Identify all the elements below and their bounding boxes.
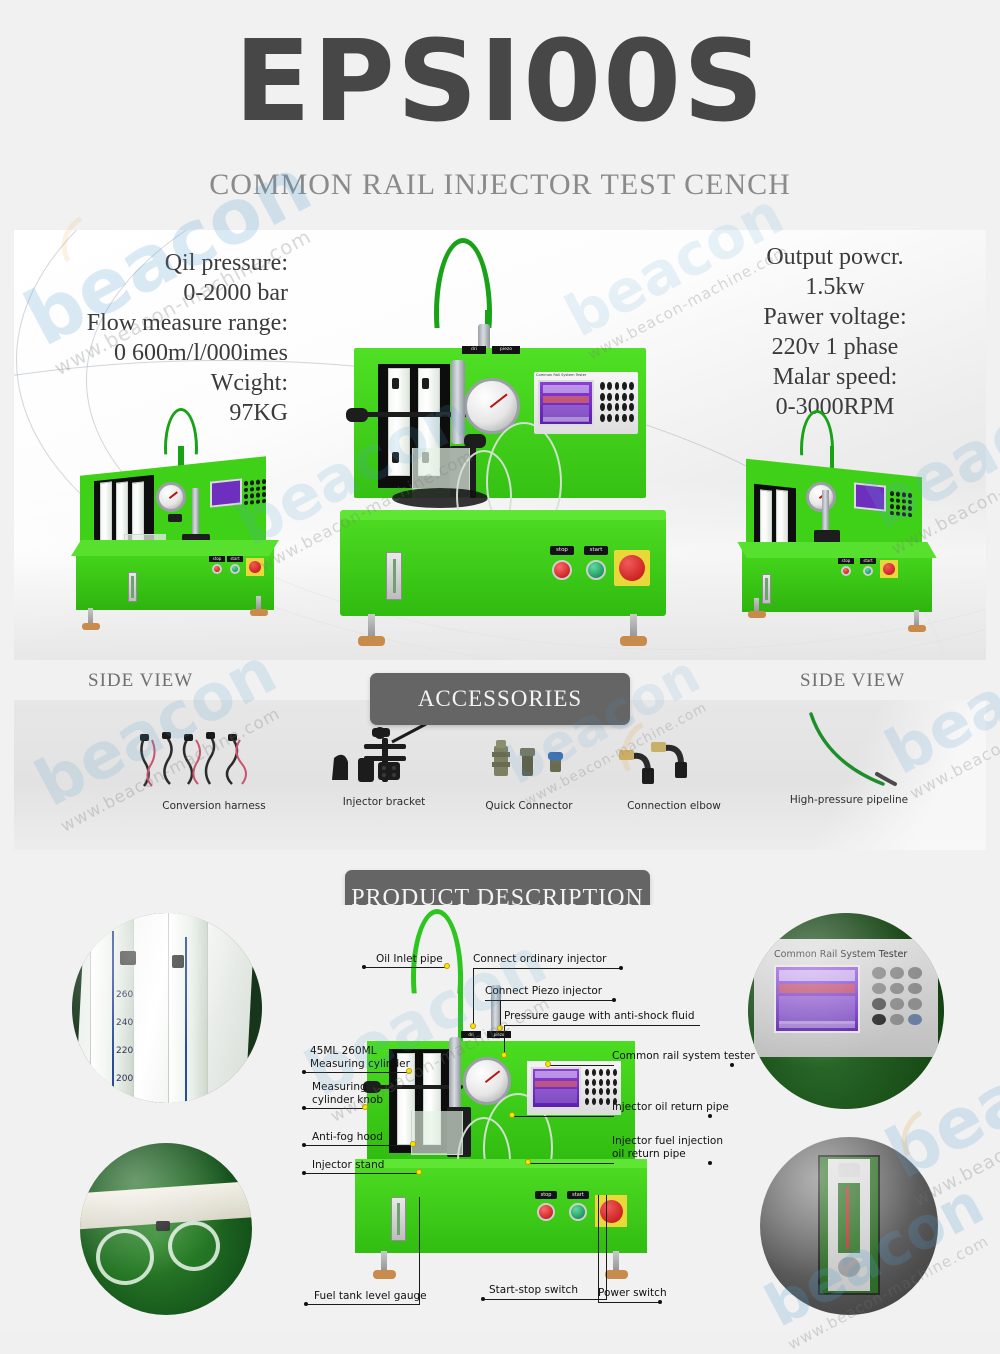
leader-anchor [501, 1052, 507, 1058]
keypad-key[interactable] [629, 414, 634, 422]
stop-button[interactable] [537, 1203, 555, 1221]
accessory-label: Conversion harness [124, 800, 304, 812]
high-pressure-pipeline-icon [749, 712, 949, 800]
cylinder-top-view-photo [80, 1143, 252, 1315]
controller-keypad[interactable] [244, 479, 266, 505]
keypad-key[interactable] [890, 497, 894, 502]
keypad-key[interactable] [606, 1098, 610, 1105]
keypad-key[interactable] [600, 403, 605, 411]
leader-anchor [470, 1023, 476, 1029]
fuel-tank-level-gauge [391, 1197, 406, 1241]
start-button-label: start [567, 1191, 589, 1199]
machine-foot-pad [373, 1270, 396, 1279]
keypad-key[interactable] [629, 403, 634, 411]
fuel-tank-level-gauge [762, 574, 771, 604]
photo-gloss [748, 913, 944, 1109]
keypad-key[interactable] [250, 493, 254, 498]
leader-line [473, 968, 474, 1026]
injector-holder [449, 1037, 461, 1111]
keypad-key[interactable] [890, 491, 894, 496]
leader-dot [302, 1070, 306, 1074]
stop-button-label: stop [535, 1191, 557, 1199]
keypad-key[interactable] [606, 1069, 610, 1076]
cylinder-clip [392, 378, 399, 389]
leader-line [504, 1025, 505, 1055]
keypad-key[interactable] [908, 493, 912, 498]
callout-injector-stand: Injector stand [312, 1159, 384, 1172]
keypad-key[interactable] [256, 499, 260, 504]
side-view-caption-right: SIDE VIEW [800, 670, 905, 692]
machine-foot-pad [358, 636, 385, 646]
beaker [411, 1111, 463, 1155]
leader-line [500, 1000, 501, 1028]
leader-line [483, 1299, 607, 1300]
leader-anchor [410, 1141, 416, 1147]
pressure-gauge [806, 482, 836, 512]
connection-elbow-icon [589, 726, 759, 800]
injector-holder [451, 360, 465, 444]
leader-line [304, 1072, 410, 1073]
keypad-key[interactable] [896, 491, 900, 496]
power-switch[interactable] [880, 560, 898, 578]
keypad-key[interactable] [585, 1079, 589, 1086]
start-button-label: start [860, 558, 876, 564]
power-switch[interactable] [595, 1195, 627, 1227]
callout-pressure-gauge: Pressure gauge with anti-shock fluid [504, 1010, 695, 1023]
leader-anchor [509, 1112, 515, 1118]
callout-power-switch: Power switch [598, 1287, 667, 1300]
keypad-key[interactable] [908, 506, 912, 511]
keypad-key[interactable] [902, 499, 906, 504]
callout-injector-oil-return-pipe: Injector oil return pipe [612, 1101, 729, 1114]
keypad-key[interactable] [262, 492, 266, 497]
leader-dot [730, 1063, 734, 1067]
keypad-key[interactable] [592, 1079, 596, 1086]
piezo-injector-port-label: piezo [492, 346, 520, 354]
keypad-key[interactable] [896, 504, 900, 509]
leader-line [548, 1065, 614, 1066]
leader-dot [658, 1300, 662, 1304]
cabinet-top-edge [340, 510, 666, 520]
keypad-key[interactable] [585, 1088, 589, 1095]
controller-lcd[interactable] [538, 380, 594, 426]
callout-anti-fog-hood: Anti-fog hood [312, 1131, 383, 1144]
machine-cabinet-top [71, 540, 279, 556]
leader-line [364, 967, 448, 968]
knob [168, 514, 182, 522]
keypad-key[interactable] [615, 414, 620, 422]
ordinary-injector-port-label: dri [461, 1031, 481, 1038]
keypad-key[interactable] [607, 414, 612, 422]
keypad-key[interactable] [600, 382, 605, 390]
leader-dot [302, 1171, 306, 1175]
photo-gloss [760, 1137, 938, 1315]
leader-dot [304, 1302, 308, 1306]
leader-dot [481, 1297, 485, 1301]
leader-line [512, 1116, 614, 1117]
keypad-key[interactable] [250, 487, 254, 492]
keypad-key[interactable] [622, 393, 627, 401]
keypad-key[interactable] [902, 512, 906, 517]
start-button[interactable] [569, 1203, 587, 1221]
accessory-connection-elbow: Connection elbow [589, 726, 759, 812]
leader-dot [362, 965, 366, 969]
accessory-conversion-harness: Conversion harness [124, 726, 304, 812]
keypad-key[interactable] [600, 393, 605, 401]
stop-button-label: stop [209, 556, 225, 562]
keypad-key[interactable] [599, 1069, 603, 1076]
keypad-key[interactable] [890, 504, 894, 509]
callout-measuring-cylinder: 45ML 260ML Measuring cylinder [310, 1045, 410, 1070]
leader-dot [612, 998, 616, 1002]
product-poster: EPSI00S COMMON RAIL INJECTOR TEST CENCH … [0, 0, 1000, 1333]
keypad-key[interactable] [629, 382, 634, 390]
callout-start-stop-switch: Start-stop switch [489, 1284, 578, 1297]
stop-button-label: stop [838, 558, 854, 564]
machine-foot-pad [620, 636, 647, 646]
keypad-key[interactable] [585, 1069, 589, 1076]
leader-line [304, 1108, 366, 1109]
machine-foot-pad [250, 609, 268, 616]
leader-dot [302, 1143, 306, 1147]
keypad-key[interactable] [592, 1088, 596, 1095]
leader-anchor [525, 1159, 531, 1165]
keypad-key[interactable] [607, 393, 612, 401]
leader-line [306, 1304, 420, 1305]
keypad-key[interactable] [896, 498, 900, 503]
leader-line [598, 1302, 660, 1303]
leader-dot [708, 1161, 712, 1165]
leader-line [504, 1025, 700, 1026]
start-button-label: start [227, 556, 243, 562]
machine-side-view-left: stop start [64, 430, 304, 630]
leader-anchor [362, 1104, 368, 1110]
piezo-injector-port-label: piezo [487, 1031, 511, 1038]
fuel-level-gauge-photo [760, 1137, 938, 1315]
leader-line [598, 1195, 599, 1303]
keypad-key[interactable] [250, 500, 254, 505]
hero-section: Qil pressure: 0-2000 bar Flow measure ra… [14, 230, 986, 660]
controller-brand-label: Common Rail System Tester [536, 373, 616, 377]
machine-foot-pad [908, 625, 926, 632]
keypad-key[interactable] [256, 479, 260, 484]
photo-gloss [80, 1143, 252, 1315]
keypad-key[interactable] [622, 382, 627, 390]
accessory-high-pressure-pipeline: High-pressure pipeline [749, 712, 949, 806]
machine-foot-pad [605, 1270, 628, 1279]
keypad-key[interactable] [615, 403, 620, 411]
keypad-key[interactable] [896, 511, 900, 516]
controller-lcd[interactable] [210, 478, 242, 507]
callout-measuring-cylinder-knob: Measuring cylinder knob [312, 1081, 383, 1106]
page-subtitle: COMMON RAIL INJECTOR TEST CENCH [0, 168, 1000, 202]
controller-lcd[interactable] [854, 482, 886, 511]
product-description-section: 260 240 220 200 Common Rail System Teste… [0, 905, 1000, 1333]
start-button[interactable] [586, 560, 606, 580]
keypad-key[interactable] [599, 1088, 603, 1095]
keypad-key[interactable] [592, 1098, 596, 1105]
keypad-key[interactable] [592, 1069, 596, 1076]
keypad-key[interactable] [599, 1098, 603, 1105]
keypad-key[interactable] [902, 505, 906, 510]
leader-line [528, 1163, 614, 1164]
callout-oil-inlet-pipe: Oil Inlet pipe [376, 953, 443, 966]
oil-inlet-hose [411, 909, 463, 1045]
keypad-key[interactable] [244, 487, 248, 492]
leader-anchor [406, 1068, 412, 1074]
keypad-key[interactable] [615, 382, 620, 390]
side-view-caption-left: SIDE VIEW [88, 670, 193, 692]
keypad-key[interactable] [629, 393, 634, 401]
keypad-key[interactable] [262, 498, 266, 503]
page-title: EPSI00S [0, 26, 1000, 138]
stop-button-label: stop [550, 546, 574, 555]
cylinder-clip [422, 378, 429, 389]
keypad-key[interactable] [244, 481, 248, 486]
conversion-harness-icon [124, 726, 304, 800]
measuring-cylinders-photo: 260 240 220 200 [72, 913, 262, 1103]
start-button-label: start [584, 546, 608, 555]
callout-fuel-tank-level-gauge: Fuel tank level gauge [314, 1290, 427, 1303]
controller-lcd[interactable] [531, 1067, 581, 1109]
stop-button[interactable] [552, 560, 572, 580]
leader-anchor [545, 1061, 551, 1067]
stop-button[interactable] [212, 564, 222, 574]
spec-list-left: Qil pressure: 0-2000 bar Flow measure ra… [28, 248, 288, 428]
leader-line [304, 1173, 420, 1174]
spec-list-right: Output powcr. 1.5kw Pawer voltage: 220v … [710, 242, 960, 422]
controller-keypad[interactable] [890, 491, 912, 517]
keypad-key[interactable] [585, 1098, 589, 1105]
machine-side-view-right: stop start [714, 430, 954, 630]
leader-dot [619, 966, 623, 970]
keypad-key[interactable] [613, 1088, 617, 1095]
keypad-key[interactable] [607, 382, 612, 390]
machine-foot-pad [748, 611, 766, 618]
stop-button[interactable] [841, 566, 851, 576]
machine-cabinet [76, 548, 274, 610]
keypad-key[interactable] [262, 479, 266, 484]
start-button[interactable] [863, 566, 873, 576]
keypad-key[interactable] [599, 1079, 603, 1086]
ordinary-injector-port-label: dri [462, 346, 486, 354]
keypad-key[interactable] [250, 480, 254, 485]
keypad-key[interactable] [600, 414, 605, 422]
keypad-key[interactable] [613, 1069, 617, 1076]
keypad-key[interactable] [613, 1079, 617, 1086]
controller-keypad[interactable] [600, 382, 634, 422]
pressure-gauge [156, 482, 186, 512]
callout-connect-piezo-injector: Connect Piezo injector [485, 985, 602, 998]
keypad-key[interactable] [615, 393, 620, 401]
fuel-tank-level-gauge [128, 572, 137, 602]
keypad-key[interactable] [622, 414, 627, 422]
leader-dot [302, 1106, 306, 1110]
keypad-key[interactable] [244, 494, 248, 499]
leader-anchor [444, 963, 450, 969]
leader-anchor [416, 1169, 422, 1175]
power-switch[interactable] [246, 558, 264, 576]
keypad-key[interactable] [622, 403, 627, 411]
keypad-key[interactable] [606, 1079, 610, 1086]
keypad-key[interactable] [902, 492, 906, 497]
poster-header: EPSI00S COMMON RAIL INJECTOR TEST CENCH [0, 0, 1000, 230]
leader-line [304, 1145, 414, 1146]
controller-panel-photo: Common Rail System Tester [748, 913, 944, 1109]
keypad-key[interactable] [256, 492, 260, 497]
keypad-key[interactable] [908, 499, 912, 504]
leader-line [606, 1195, 607, 1300]
machine-foot-pad [82, 623, 100, 630]
machine-front-view: dri piezo Common Rail System Tester [336, 330, 676, 660]
machine-cabinet-top [737, 542, 936, 558]
power-switch[interactable] [614, 550, 650, 586]
accessory-label: Connection elbow [589, 800, 759, 812]
cylinder-clip [392, 452, 399, 463]
leader-line [473, 968, 621, 969]
callout-injector-fuel-injection-oil-return-pipe: Injector fuel injection oil return pipe [612, 1135, 723, 1160]
callout-common-rail-system-tester: Common rail system tester [612, 1050, 755, 1063]
keypad-key[interactable] [244, 500, 248, 505]
leader-line [419, 1197, 420, 1305]
accessories-banner: ACCESSORIES [370, 673, 630, 725]
controller-keypad[interactable] [585, 1069, 617, 1105]
measuring-cylinder-knob[interactable] [346, 408, 368, 422]
keypad-key[interactable] [256, 486, 260, 491]
keypad-key[interactable] [890, 510, 894, 515]
keypad-key[interactable] [606, 1088, 610, 1095]
keypad-key[interactable] [262, 485, 266, 490]
callout-connect-ordinary-injector: Connect ordinary injector [473, 953, 606, 966]
start-button[interactable] [230, 564, 240, 574]
leader-anchor [497, 1025, 503, 1031]
fuel-tank-level-gauge [386, 552, 402, 600]
keypad-key[interactable] [908, 512, 912, 517]
photo-gloss [72, 913, 262, 1103]
leader-line [485, 1000, 614, 1001]
leader-dot [708, 1114, 712, 1118]
keypad-key[interactable] [607, 403, 612, 411]
